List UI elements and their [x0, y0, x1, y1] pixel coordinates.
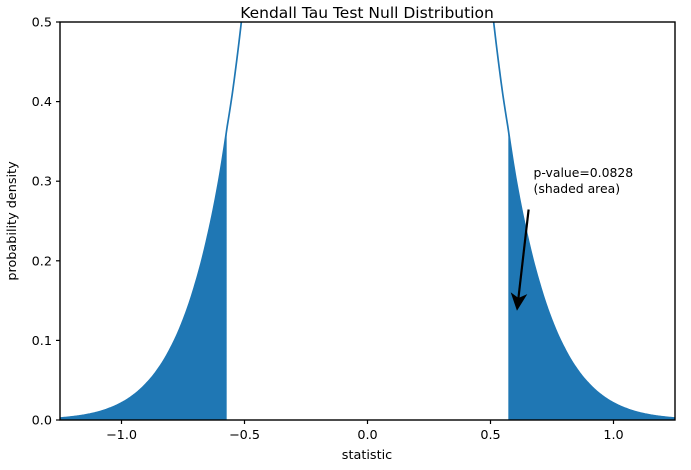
figure-canvas: −1.0−0.50.00.51.0 0.00.10.20.30.40.5 Ken…	[0, 0, 691, 470]
x-axis-label: statistic	[342, 448, 392, 463]
annotation-line-pvalue: p-value=0.0828	[534, 165, 634, 180]
y-tick-label: 0.3	[32, 175, 52, 190]
density-curve	[60, 0, 675, 418]
x-tick-label: 0.0	[357, 428, 377, 443]
plot-area	[60, 0, 675, 420]
y-tick-label: 0.0	[32, 414, 52, 429]
x-axis-ticks: −1.0−0.50.00.51.0	[106, 420, 624, 443]
y-axis-label: probability density	[5, 161, 20, 281]
y-tick-label: 0.4	[32, 95, 52, 110]
y-tick-label: 0.5	[32, 16, 52, 31]
shaded-region-left-tail	[60, 130, 227, 420]
chart-title: Kendall Tau Test Null Distribution	[240, 4, 494, 22]
y-tick-label: 0.2	[32, 254, 52, 269]
x-tick-label: −0.5	[229, 428, 260, 443]
x-tick-label: 1.0	[603, 428, 623, 443]
x-tick-label: −1.0	[106, 428, 137, 443]
y-axis-ticks: 0.00.10.20.30.40.5	[32, 16, 60, 429]
annotation-line-shaded-area: (shaded area)	[534, 181, 621, 196]
x-tick-label: 0.5	[480, 428, 500, 443]
chart-svg: −1.0−0.50.00.51.0 0.00.10.20.30.40.5 Ken…	[0, 0, 691, 470]
y-tick-label: 0.1	[32, 334, 52, 349]
axes-spines	[60, 22, 675, 420]
